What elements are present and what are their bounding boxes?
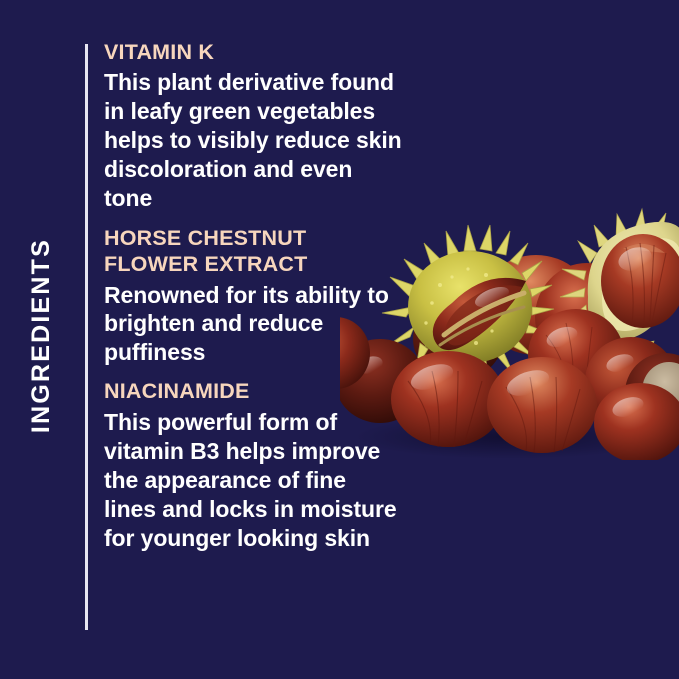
ingredient-block-horse-chestnut-flower-extract: HORSE CHESTNUT FLOWER EXTRACT Renowned f… — [104, 225, 404, 367]
ingredient-block-niacinamide: NIACINAMIDE This powerful form of vitami… — [104, 378, 404, 552]
ingredient-body-vitamin-k: This plant derivative found in leafy gre… — [104, 68, 404, 213]
ingredients-vertical-label-text: INGREDIENTS — [29, 238, 54, 433]
ingredients-graphic: INGREDIENTS — [0, 0, 679, 679]
ingredient-body-niacinamide: This powerful form of vitamin B3 helps i… — [104, 408, 404, 553]
ingredient-heading-vitamin-k: VITAMIN K — [104, 39, 404, 65]
ingredient-heading-horse-chestnut-flower-extract: HORSE CHESTNUT FLOWER EXTRACT — [104, 225, 404, 277]
ingredients-vertical-label: INGREDIENTS — [0, 0, 72, 679]
ingredient-heading-niacinamide: NIACINAMIDE — [104, 378, 404, 404]
vertical-divider — [85, 44, 88, 630]
ingredient-block-vitamin-k: VITAMIN K This plant derivative found in… — [104, 39, 404, 213]
ingredients-text-column: VITAMIN K This plant derivative found in… — [104, 39, 404, 552]
ingredient-body-horse-chestnut-flower-extract: Renowned for its ability to brighten and… — [104, 281, 404, 368]
